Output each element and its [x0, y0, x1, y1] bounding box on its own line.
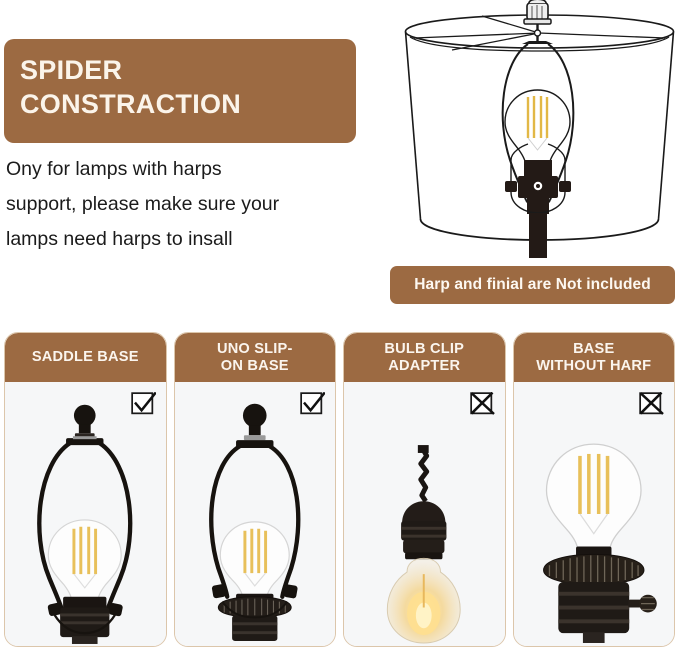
card-base-without-harp[interactable]: BASE WITHOUT HARF [513, 332, 676, 647]
saddle-base-illustration [5, 382, 166, 646]
card-header-base-without-harp: BASE WITHOUT HARF [514, 333, 675, 382]
lamp-shade-diagram [400, 0, 679, 258]
checkmark-icon [300, 392, 325, 417]
harp-not-included-banner: Harp and finial are Not included [390, 266, 675, 304]
title-line-1: SPIDER [20, 53, 356, 87]
title-banner: SPIDER CONSTRACTION [4, 39, 356, 143]
card-body-uno-slip-on-base [175, 382, 336, 646]
title-line-2: CONSTRACTION [20, 87, 356, 121]
subtitle-line-1: Ony for lamps with harps [6, 152, 346, 187]
card-header-saddle-base: SADDLE BASE [5, 333, 166, 382]
card-title-line-1: BULB CLIP [384, 341, 464, 358]
card-saddle-base[interactable]: SADDLE BASE [4, 332, 167, 647]
card-body-base-without-harp [514, 382, 675, 646]
card-body-bulb-clip-adapter [344, 382, 505, 646]
subtitle-line-2: support, please make sure your [6, 187, 346, 222]
uno-slip-on-base-illustration [175, 382, 336, 646]
card-title-line-2: ADAPTER [384, 358, 464, 375]
cross-icon [639, 392, 664, 417]
card-bulb-clip-adapter[interactable]: BULB CLIP ADAPTER [343, 332, 506, 647]
pendant-bulb-clip-illustration [344, 382, 505, 646]
subtitle-text: Ony for lamps with harps support, please… [6, 152, 346, 257]
card-header-uno-slip-on-base: UNO SLIP- ON BASE [175, 333, 336, 382]
card-header-bulb-clip-adapter: BULB CLIP ADAPTER [344, 333, 505, 382]
cross-icon [470, 392, 495, 417]
intro-block: SPIDER CONSTRACTION Ony for lamps with h… [0, 0, 400, 318]
card-body-saddle-base [5, 382, 166, 646]
harp-banner-text: Harp and finial are Not included [414, 276, 651, 294]
socket-without-harp-illustration [514, 382, 675, 646]
checkmark-icon [131, 392, 156, 417]
subtitle-line-3: lamps need harps to insall [6, 222, 346, 257]
card-title-line-2: WITHOUT HARF [536, 358, 651, 375]
card-title-line-1: UNO SLIP- [217, 341, 293, 358]
base-type-card-row: SADDLE BASE [0, 332, 679, 647]
card-title-line-2: ON BASE [217, 358, 293, 375]
card-uno-slip-on-base[interactable]: UNO SLIP- ON BASE [174, 332, 337, 647]
card-title-line-1: SADDLE BASE [32, 349, 139, 366]
finial [524, 0, 551, 24]
card-title-line-1: BASE [536, 341, 651, 358]
